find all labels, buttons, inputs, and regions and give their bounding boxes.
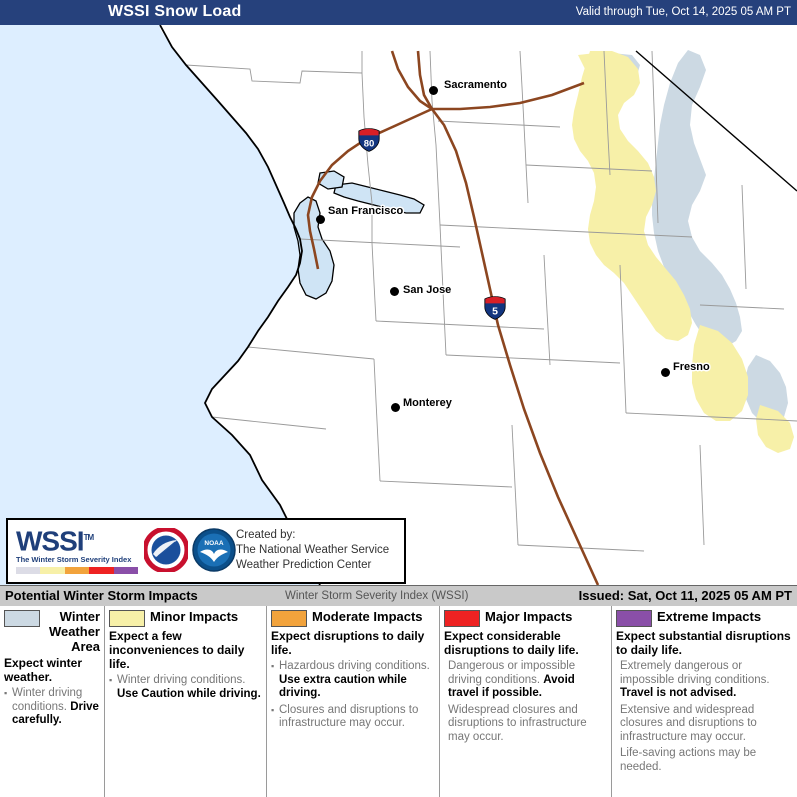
legend-lead-moderate-impacts: Expect disruptions to daily life. — [271, 629, 435, 657]
created-by-line-3: Weather Prediction Center — [236, 558, 389, 573]
wssi-logo-box: WSSITM The Winter Storm Severity Index — [6, 518, 406, 584]
wssi-wordmark: WSSITM The Winter Storm Severity Index — [16, 524, 138, 574]
nws-seal-icon — [144, 528, 188, 572]
list-item: Extremely dangerous or impossible drivin… — [616, 660, 793, 701]
list-item: Dangerous or impossible driving conditio… — [444, 660, 607, 701]
legend-title-major-impacts: Major Impacts — [485, 609, 572, 624]
legend-bar-issued-text: Issued: Sat, Oct 11, 2025 05 AM PT — [579, 588, 792, 603]
legend-title-winter-weather-area: Winter Weather Area — [45, 609, 100, 654]
wssi-word-text: WSSI — [16, 525, 84, 556]
city-label-monterey: Monterey — [403, 397, 452, 409]
list-item: Winter driving conditions. Drive careful… — [4, 687, 100, 728]
noaa-seal-text: NOAA — [204, 540, 223, 547]
list-item: Life-saving actions may be needed. — [616, 747, 793, 774]
interstate-shield-80-icon: 80 — [358, 128, 380, 152]
created-by-line-1: Created by: — [236, 528, 389, 543]
bullet-gray-text: Closures and disruptions to infrastructu… — [279, 704, 418, 730]
created-by-line-2: The National Weather Service — [236, 543, 389, 558]
created-by-block: Created by: The National Weather Service… — [236, 528, 389, 573]
legend-swatch-winter-weather-area — [4, 610, 40, 627]
legend-bullets-moderate-impacts: Hazardous driving conditions. Use extra … — [271, 660, 435, 731]
list-item: Hazardous driving conditions. Use extra … — [271, 660, 435, 701]
strip-swatch-major — [89, 567, 113, 574]
legend-title-minor-impacts: Minor Impacts — [150, 609, 238, 624]
wssi-snow-load-page: WSSI Snow Load Valid through Tue, Oct 14… — [0, 0, 797, 797]
page-header: WSSI Snow Load Valid through Tue, Oct 14… — [0, 0, 797, 25]
strip-swatch-winter — [16, 567, 40, 574]
wssi-color-strip — [16, 567, 138, 574]
list-item: Closures and disruptions to infrastructu… — [271, 704, 435, 731]
legend-column-minor-impacts[interactable]: Minor Impacts Expect a few inconvenience… — [105, 606, 267, 797]
map-canvas[interactable]: Sacramento San Francisco San Jose Monter… — [0, 25, 797, 585]
legend-title-bar: Potential Winter Storm Impacts Winter St… — [0, 585, 797, 608]
legend-bullets-major-impacts: Dangerous or impossible driving conditio… — [444, 660, 607, 744]
map-graphic — [0, 25, 797, 585]
strip-swatch-extreme — [114, 567, 138, 574]
legend-lead-major-impacts: Expect considerable disruptions to daily… — [444, 629, 607, 657]
list-item: Extensive and widespread closures and di… — [616, 704, 793, 745]
city-label-sacramento: Sacramento — [444, 79, 507, 91]
legend-title-extreme-impacts: Extreme Impacts — [657, 609, 761, 624]
wssi-tm-mark: TM — [84, 533, 94, 542]
bullet-gray-text: Extremely dangerous or impossible drivin… — [620, 660, 770, 686]
noaa-seal-icon: NOAA — [192, 528, 236, 572]
city-label-san-francisco: San Francisco — [328, 205, 403, 217]
city-label-san-jose: San Jose — [403, 284, 451, 296]
city-label-fresno: Fresno — [673, 361, 710, 373]
legend-lead-extreme-impacts: Expect substantial disruptions to daily … — [616, 629, 793, 657]
legend-column-extreme-impacts[interactable]: Extreme Impacts Expect substantial disru… — [612, 606, 797, 797]
strip-swatch-moderate — [65, 567, 89, 574]
city-dot-san-jose — [390, 287, 399, 296]
legend-bullets-minor-impacts: Winter driving conditions. Use Caution w… — [109, 674, 262, 701]
city-dot-san-francisco — [316, 215, 325, 224]
city-dot-fresno — [661, 368, 670, 377]
bullet-gray-text: Hazardous driving conditions. — [279, 660, 430, 672]
city-dot-sacramento — [429, 86, 438, 95]
legend-bar-left-text: Potential Winter Storm Impacts — [5, 588, 198, 603]
legend-column-winter-weather-area[interactable]: Winter Weather Area Expect winter weathe… — [0, 606, 105, 797]
legend-bullets-winter-weather-area: Winter driving conditions. Drive careful… — [4, 687, 100, 728]
legend-title-moderate-impacts: Moderate Impacts — [312, 609, 423, 624]
legend-lead-winter-weather-area: Expect winter weather. — [4, 656, 100, 684]
bullet-gray-text: Widespread closures and disruptions to i… — [448, 704, 587, 743]
bullet-bold-text: Travel is not advised. — [620, 687, 736, 699]
legend-swatch-minor-impacts — [109, 610, 145, 627]
legend-lead-minor-impacts: Expect a few inconveniences to daily lif… — [109, 629, 262, 671]
legend-bar-center-text: Winter Storm Severity Index (WSSI) — [285, 590, 468, 602]
legend-swatch-major-impacts — [444, 610, 480, 627]
interstate-shield-5-icon: 5 — [484, 296, 506, 320]
legend-swatch-extreme-impacts — [616, 610, 652, 627]
list-item: Winter driving conditions. Use Caution w… — [109, 674, 262, 701]
bullet-gray-text: Winter driving conditions. — [117, 674, 245, 686]
bullet-bold-text: Use extra caution while driving. — [279, 674, 407, 700]
page-title: WSSI Snow Load — [108, 3, 241, 21]
legend-swatch-moderate-impacts — [271, 610, 307, 627]
list-item: Widespread closures and disruptions to i… — [444, 704, 607, 745]
legend-bullets-extreme-impacts: Extremely dangerous or impossible drivin… — [616, 660, 793, 774]
strip-swatch-minor — [40, 567, 64, 574]
svg-text:5: 5 — [492, 306, 498, 318]
bullet-gray-text: Life-saving actions may be needed. — [620, 747, 756, 773]
valid-through-text: Valid through Tue, Oct 14, 2025 05 AM PT — [576, 6, 791, 18]
city-dot-monterey — [391, 403, 400, 412]
bullet-bold-text: Use Caution while driving. — [117, 688, 261, 700]
bullet-gray-text: Extensive and widespread closures and di… — [620, 704, 757, 743]
wssi-tagline: The Winter Storm Severity Index — [16, 555, 138, 565]
legend-panel: Winter Weather Area Expect winter weathe… — [0, 606, 797, 797]
legend-column-moderate-impacts[interactable]: Moderate Impacts Expect disruptions to d… — [267, 606, 440, 797]
svg-text:80: 80 — [364, 138, 375, 149]
legend-column-major-impacts[interactable]: Major Impacts Expect considerable disrup… — [440, 606, 612, 797]
